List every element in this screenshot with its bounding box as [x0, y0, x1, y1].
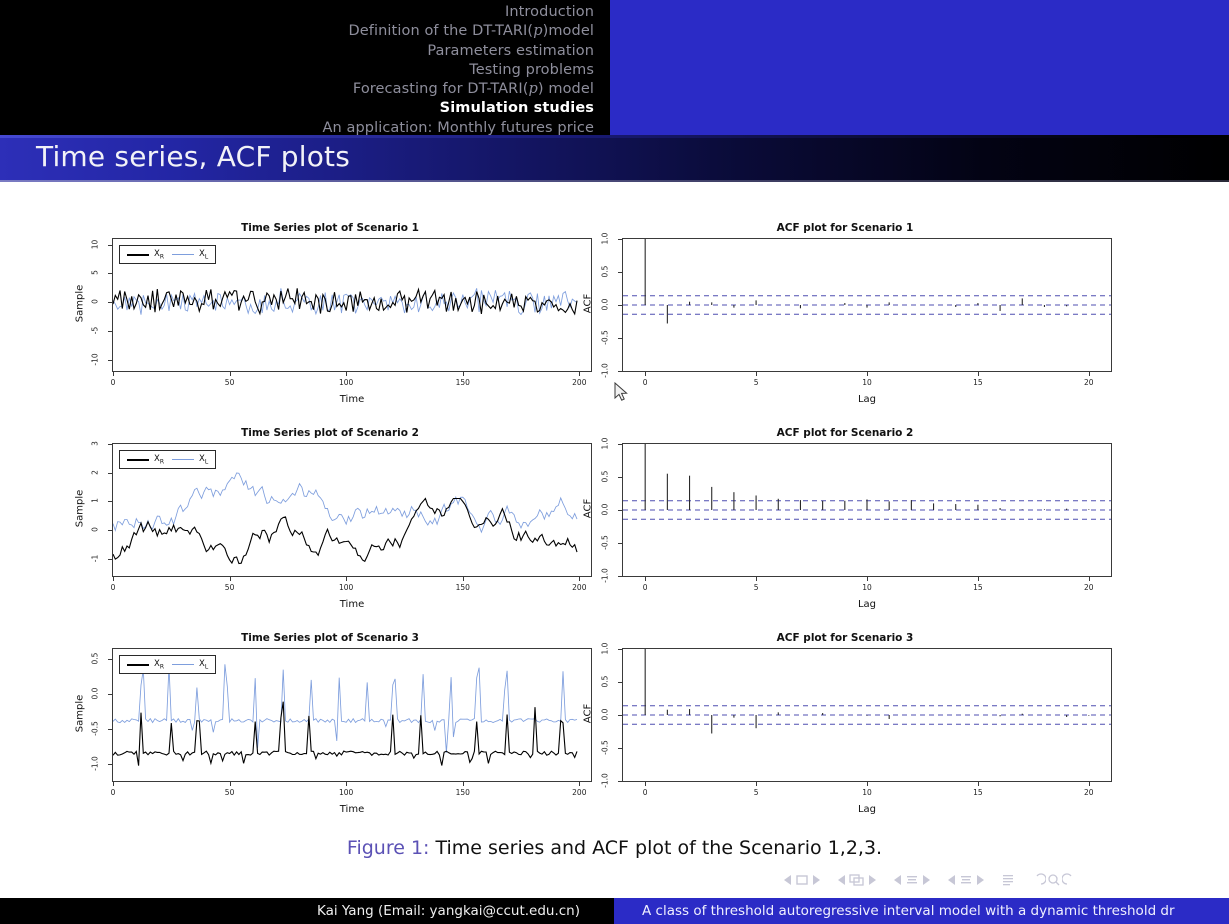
y-tick-label: 2: [91, 461, 100, 483]
slide-nav-group[interactable]: [782, 873, 822, 887]
y-tick-label: 0.5: [601, 261, 610, 283]
x-tickmark: [1089, 577, 1090, 581]
x-tick-label: 100: [334, 583, 358, 592]
plot-canvas-acf3: [623, 649, 1111, 781]
math-p: p: [528, 81, 537, 97]
nav-item-0[interactable]: Introduction: [505, 3, 608, 22]
x-tick-label: 50: [218, 788, 242, 797]
x-tick-label: 15: [966, 583, 990, 592]
y-tick-label: 1.0: [601, 433, 610, 455]
document-nav-group[interactable]: [1000, 873, 1016, 887]
math-p: p: [533, 23, 542, 39]
x-tick-label: 20: [1077, 583, 1101, 592]
prev-frame-icon[interactable]: [836, 873, 848, 887]
x-tickmark: [645, 577, 646, 581]
x-tick-label: 150: [451, 583, 475, 592]
x-tick-label: 100: [334, 378, 358, 387]
x-tick-label: 150: [451, 378, 475, 387]
x-tick-label: 5: [744, 378, 768, 387]
y-tick-label: 5: [91, 262, 100, 284]
x-tick-label: 0: [101, 378, 125, 387]
x-tickmark: [867, 782, 868, 786]
x-tick-label: 0: [101, 583, 125, 592]
x-tick-label: 20: [1077, 378, 1101, 387]
panel-acf3: ACF plot for Scenario 305101520-1.0-0.50…: [570, 632, 1120, 828]
x-tickmark: [463, 577, 464, 581]
x-tick-label: 10: [855, 583, 879, 592]
y-tickmark: [108, 694, 112, 695]
navigation-accent-panel: [610, 0, 1229, 135]
y-tick-label: 0.5: [601, 671, 610, 693]
x-tickmark: [978, 577, 979, 581]
y-tickmark: [108, 444, 112, 445]
x-tick-label: 15: [966, 788, 990, 797]
y-tickmark: [618, 748, 622, 749]
nav-item-1[interactable]: Definition of the DT-TARI(p)model: [349, 22, 608, 41]
legend-label: XR: [154, 249, 164, 261]
figure-grid: Time Series plot of Scenario 1XRXL050100…: [0, 182, 1229, 842]
next-subsection-icon[interactable]: [920, 873, 932, 887]
frame-icon[interactable]: [848, 873, 866, 887]
legend-swatch: [127, 459, 149, 461]
y-tick-label: 3: [91, 433, 100, 455]
legend-swatch: [127, 664, 149, 666]
x-axis-title-ts1: Time: [112, 394, 592, 405]
y-tick-label: 0.0: [601, 499, 610, 521]
frame-nav-group[interactable]: [836, 873, 878, 887]
y-tickmark: [618, 781, 622, 782]
y-tickmark: [108, 764, 112, 765]
x-tickmark: [978, 372, 979, 376]
x-tick-label: 0: [633, 378, 657, 387]
plot-area-acf3: [622, 648, 1112, 782]
x-tickmark: [113, 372, 114, 376]
y-tick-label: -0.5: [601, 737, 610, 759]
y-tick-label: -1.0: [601, 565, 610, 587]
navigation-section-list: IntroductionDefinition of the DT-TARI(p)…: [0, 0, 608, 135]
series-line-XR: [113, 288, 577, 314]
y-tickmark: [108, 302, 112, 303]
legend-swatch: [172, 254, 194, 255]
y-tick-label: -1.0: [601, 770, 610, 792]
chart-legend-ts1: XRXL: [119, 245, 216, 264]
y-tickmark: [618, 305, 622, 306]
y-tickmark: [108, 559, 112, 560]
y-tick-label: -10: [91, 348, 100, 370]
y-tick-label: 0.0: [601, 704, 610, 726]
navigation-header: IntroductionDefinition of the DT-TARI(p)…: [0, 0, 1229, 135]
y-tick-label: 1.0: [601, 638, 610, 660]
back-icon[interactable]: [1030, 873, 1046, 887]
title-bar-sheen: [0, 135, 1229, 138]
y-tick-label: -1.0: [601, 360, 610, 382]
slide-content: Time Series plot of Scenario 1XRXL050100…: [0, 182, 1229, 894]
x-tick-label: 10: [855, 788, 879, 797]
y-tick-label: 0.0: [601, 294, 610, 316]
section-icon[interactable]: [958, 873, 974, 887]
plot-area-ts3: XRXL: [112, 648, 592, 782]
y-tick-label: -1.0: [91, 752, 100, 774]
y-axis-title-ts3: Sample: [75, 688, 86, 740]
y-axis-title-acf3: ACF: [583, 688, 594, 740]
legend-label: XL: [199, 659, 208, 671]
x-tick-label: 15: [966, 378, 990, 387]
plot-area-ts1: XRXL: [112, 238, 592, 372]
chart-title-acf2: ACF plot for Scenario 2: [570, 427, 1120, 439]
back-search-forward-group[interactable]: [1030, 873, 1078, 887]
page-title: Time series, ACF plots: [36, 140, 350, 173]
next-section-icon[interactable]: [974, 873, 986, 887]
x-tick-label: 5: [744, 583, 768, 592]
plot-canvas-acf1: [623, 239, 1111, 371]
y-tick-label: 0.0: [91, 683, 100, 705]
legend-key: XL: [172, 249, 208, 261]
slide-title-bar: Time series, ACF plots: [0, 135, 1229, 182]
x-tickmark: [645, 782, 646, 786]
y-tickmark: [618, 477, 622, 478]
x-tick-label: 0: [101, 788, 125, 797]
y-tickmark: [618, 510, 622, 511]
y-tickmark: [618, 272, 622, 273]
legend-key: XR: [127, 454, 164, 466]
y-axis-title-acf1: ACF: [583, 278, 594, 330]
footer-paper-title: A class of threshold autoregressive inte…: [614, 903, 1175, 919]
x-tick-label: 150: [451, 788, 475, 797]
x-tickmark: [1089, 372, 1090, 376]
y-tick-label: -0.5: [601, 532, 610, 554]
x-tickmark: [867, 577, 868, 581]
x-tick-label: 5: [744, 788, 768, 797]
x-tickmark: [113, 577, 114, 581]
y-tickmark: [108, 473, 112, 474]
x-axis-title-acf3: Lag: [622, 804, 1112, 815]
legend-label: XL: [199, 454, 208, 466]
footer-title-block: A class of threshold autoregressive inte…: [614, 898, 1229, 924]
plot-canvas-acf2: [623, 444, 1111, 576]
y-tickmark: [618, 239, 622, 240]
x-tickmark: [346, 577, 347, 581]
x-tickmark: [645, 372, 646, 376]
plot-area-ts2: XRXL: [112, 443, 592, 577]
plot-area-acf2: [622, 443, 1112, 577]
x-tickmark: [978, 782, 979, 786]
y-tick-label: 1.0: [601, 228, 610, 250]
subsection-nav-group[interactable]: [892, 873, 932, 887]
prev-section-icon[interactable]: [946, 873, 958, 887]
x-tick-label: 0: [633, 583, 657, 592]
legend-swatch: [127, 254, 149, 256]
y-axis-title-ts2: Sample: [75, 483, 86, 535]
slide-footer: Kai Yang (Email: yangkai@ccut.edu.cn) A …: [0, 898, 1229, 924]
legend-key: XL: [172, 659, 208, 671]
legend-label: XL: [199, 249, 208, 261]
x-axis-title-acf1: Lag: [622, 394, 1112, 405]
x-axis-title-ts3: Time: [112, 804, 592, 815]
x-tickmark: [463, 782, 464, 786]
legend-key: XL: [172, 454, 208, 466]
x-tickmark: [230, 782, 231, 786]
legend-label: XR: [154, 659, 164, 671]
y-tick-label: 0.5: [91, 648, 100, 670]
footer-author: Kai Yang (Email: yangkai@ccut.edu.cn): [317, 903, 614, 919]
y-tickmark: [618, 682, 622, 683]
legend-label: XR: [154, 454, 164, 466]
x-tick-label: 100: [334, 788, 358, 797]
figure-caption: Figure 1: Time series and ACF plot of th…: [0, 837, 1229, 859]
y-tickmark: [108, 360, 112, 361]
beamer-navigation-symbols[interactable]: [782, 868, 1202, 892]
prev-slide-icon[interactable]: [782, 873, 794, 887]
subsection-icon[interactable]: [904, 873, 920, 887]
x-tickmark: [463, 372, 464, 376]
plot-area-acf1: [622, 238, 1112, 372]
chart-title-ts3: Time Series plot of Scenario 3: [60, 632, 600, 644]
section-nav-group[interactable]: [946, 873, 986, 887]
x-tickmark: [346, 782, 347, 786]
x-tickmark: [113, 782, 114, 786]
y-tickmark: [108, 530, 112, 531]
x-tick-label: 50: [218, 583, 242, 592]
chart-legend-ts3: XRXL: [119, 655, 216, 674]
chart-title-ts1: Time Series plot of Scenario 1: [60, 222, 600, 234]
x-tickmark: [756, 782, 757, 786]
legend-swatch: [172, 459, 194, 460]
y-tick-label: -0.5: [91, 717, 100, 739]
y-axis-title-acf2: ACF: [583, 483, 594, 535]
y-tickmark: [618, 543, 622, 544]
series-line-XL: [113, 473, 577, 532]
figure-caption-label: Figure 1:: [347, 837, 430, 859]
y-axis-title-ts1: Sample: [75, 278, 86, 330]
x-tickmark: [346, 372, 347, 376]
y-tickmark: [108, 273, 112, 274]
nav-item-3[interactable]: Testing problems: [469, 61, 608, 80]
next-frame-icon[interactable]: [866, 873, 878, 887]
x-tickmark: [230, 577, 231, 581]
chart-title-acf3: ACF plot for Scenario 3: [570, 632, 1120, 644]
panel-ts1: Time Series plot of Scenario 1XRXL050100…: [60, 222, 600, 418]
footer-author-block: Kai Yang (Email: yangkai@ccut.edu.cn): [0, 898, 614, 924]
y-tick-label: 0: [91, 291, 100, 313]
y-tickmark: [618, 649, 622, 650]
x-tickmark: [756, 372, 757, 376]
search-icon[interactable]: [1046, 873, 1062, 887]
x-tick-label: 20: [1077, 788, 1101, 797]
y-tick-label: -5: [91, 319, 100, 341]
panel-acf2: ACF plot for Scenario 205101520-1.0-0.50…: [570, 427, 1120, 623]
next-slide-icon[interactable]: [810, 873, 822, 887]
x-tickmark: [867, 372, 868, 376]
chart-title-ts2: Time Series plot of Scenario 2: [60, 427, 600, 439]
y-tickmark: [108, 659, 112, 660]
y-tickmark: [618, 371, 622, 372]
legend-key: XR: [127, 659, 164, 671]
panel-acf1: ACF plot for Scenario 105101520-1.0-0.50…: [570, 222, 1120, 418]
nav-item-2[interactable]: Parameters estimation: [427, 42, 608, 61]
x-tick-label: 50: [218, 378, 242, 387]
nav-item-4[interactable]: Forecasting for DT-TARI(p) model: [353, 80, 608, 99]
slide-icon[interactable]: [794, 873, 810, 887]
y-tickmark: [108, 331, 112, 332]
y-tick-label: 0.5: [601, 466, 610, 488]
x-axis-title-ts2: Time: [112, 599, 592, 610]
y-tick-label: 1: [91, 490, 100, 512]
forward-icon[interactable]: [1062, 873, 1078, 887]
x-tick-label: 10: [855, 378, 879, 387]
panel-ts3: Time Series plot of Scenario 3XRXL050100…: [60, 632, 600, 828]
y-tickmark: [618, 338, 622, 339]
y-tick-label: -0.5: [601, 327, 610, 349]
figure-caption-text: Time series and ACF plot of the Scenario…: [436, 837, 883, 859]
y-tickmark: [618, 576, 622, 577]
y-tick-label: 10: [91, 233, 100, 255]
chart-legend-ts2: XRXL: [119, 450, 216, 469]
prev-subsection-icon[interactable]: [892, 873, 904, 887]
y-tickmark: [618, 444, 622, 445]
legend-swatch: [172, 664, 194, 665]
mouse-cursor: [614, 382, 630, 402]
x-tick-label: 0: [633, 788, 657, 797]
document-icon[interactable]: [1000, 873, 1016, 887]
panel-ts2: Time Series plot of Scenario 2XRXL050100…: [60, 427, 600, 623]
chart-title-acf1: ACF plot for Scenario 1: [570, 222, 1120, 234]
y-tick-label: 0: [91, 519, 100, 541]
series-line-XR: [113, 702, 577, 766]
y-tickmark: [108, 501, 112, 502]
y-tickmark: [618, 715, 622, 716]
nav-item-5[interactable]: Simulation studies: [440, 99, 608, 118]
x-tickmark: [1089, 782, 1090, 786]
x-axis-title-acf2: Lag: [622, 599, 1112, 610]
y-tick-label: -1: [91, 547, 100, 569]
series-line-XL: [113, 664, 577, 752]
legend-key: XR: [127, 249, 164, 261]
y-tickmark: [108, 729, 112, 730]
y-tickmark: [108, 245, 112, 246]
x-tickmark: [230, 372, 231, 376]
x-tickmark: [756, 577, 757, 581]
